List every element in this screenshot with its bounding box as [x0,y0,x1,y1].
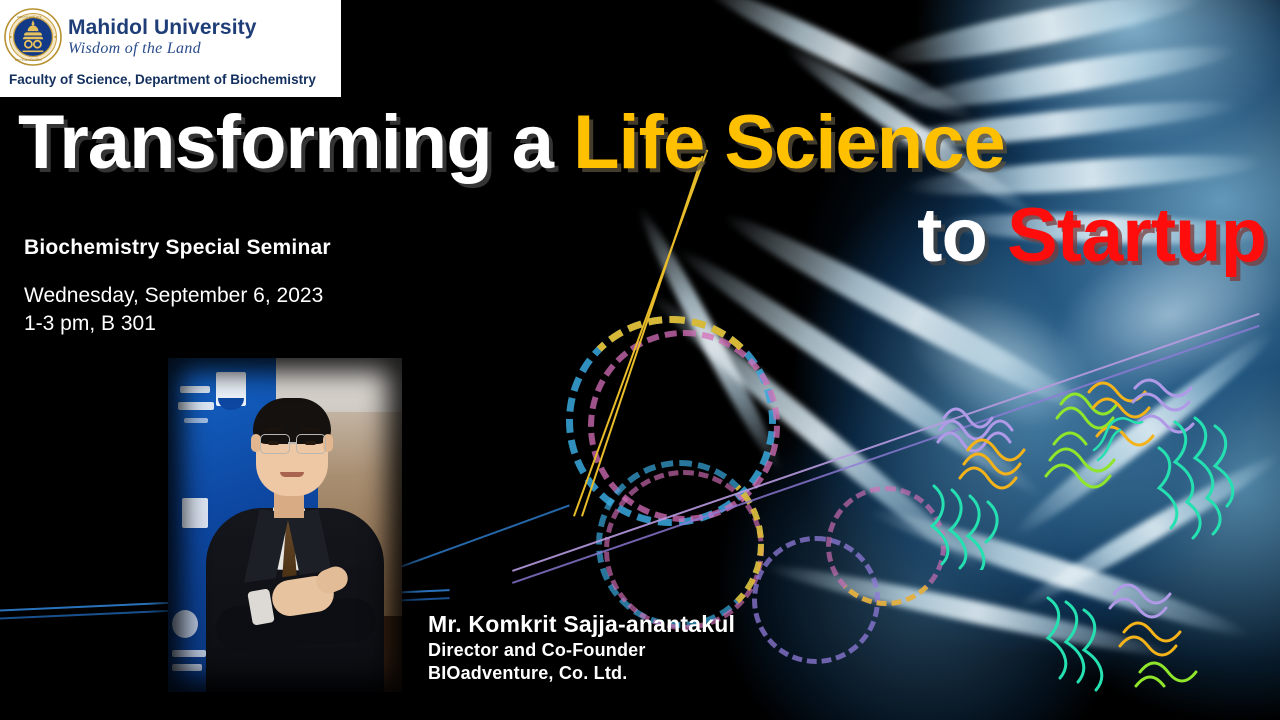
seminar-poster: อตฺตานํ อุปมํ กเร มหาวิทยาลัยมหิดล Mahid… [0,0,1280,720]
speaker-credit: Mr. Komkrit Sajja-anantakul Director and… [428,610,735,686]
protein-ribbon-icon [1088,400,1208,470]
seminar-date: Wednesday, September 6, 2023 [24,282,331,310]
svg-text:มหาวิทยาลัยมหิดล: มหาวิทยาลัยมหิดล [15,58,42,62]
speaker-organization: BIOadventure, Co. Ltd. [428,662,735,685]
genome-arc-icon [826,486,946,606]
university-name: Mahidol University [68,17,257,38]
speaker-name: Mr. Komkrit Sajja-anantakul [428,610,735,639]
photo-vignette [168,358,402,692]
faculty-department-line: Faculty of Science, Department of Bioche… [0,72,341,87]
seminar-details: Biochemistry Special Seminar Wednesday, … [24,236,331,339]
seminar-kind: Biochemistry Special Seminar [24,236,331,260]
university-logo-box: อตฺตานํ อุปมํ กเร มหาวิทยาลัยมหิดล Mahid… [0,0,341,97]
speaker-photo-image [168,358,402,692]
mahidol-seal-icon: อตฺตานํ อุปมํ กเร มหาวิทยาลัยมหิดล [4,8,62,66]
logo-text: Mahidol University Wisdom of the Land [68,17,257,57]
speaker-role: Director and Co-Founder [428,639,735,662]
university-motto: Wisdom of the Land [68,41,257,57]
logo-row: อตฺตานํ อุปมํ กเร มหาวิทยาลัยมหิดล Mahid… [0,4,341,70]
protein-ribbon-icon [1040,580,1220,720]
seminar-time-room: 1-3 pm, B 301 [24,310,331,338]
speaker-photo [168,358,402,692]
